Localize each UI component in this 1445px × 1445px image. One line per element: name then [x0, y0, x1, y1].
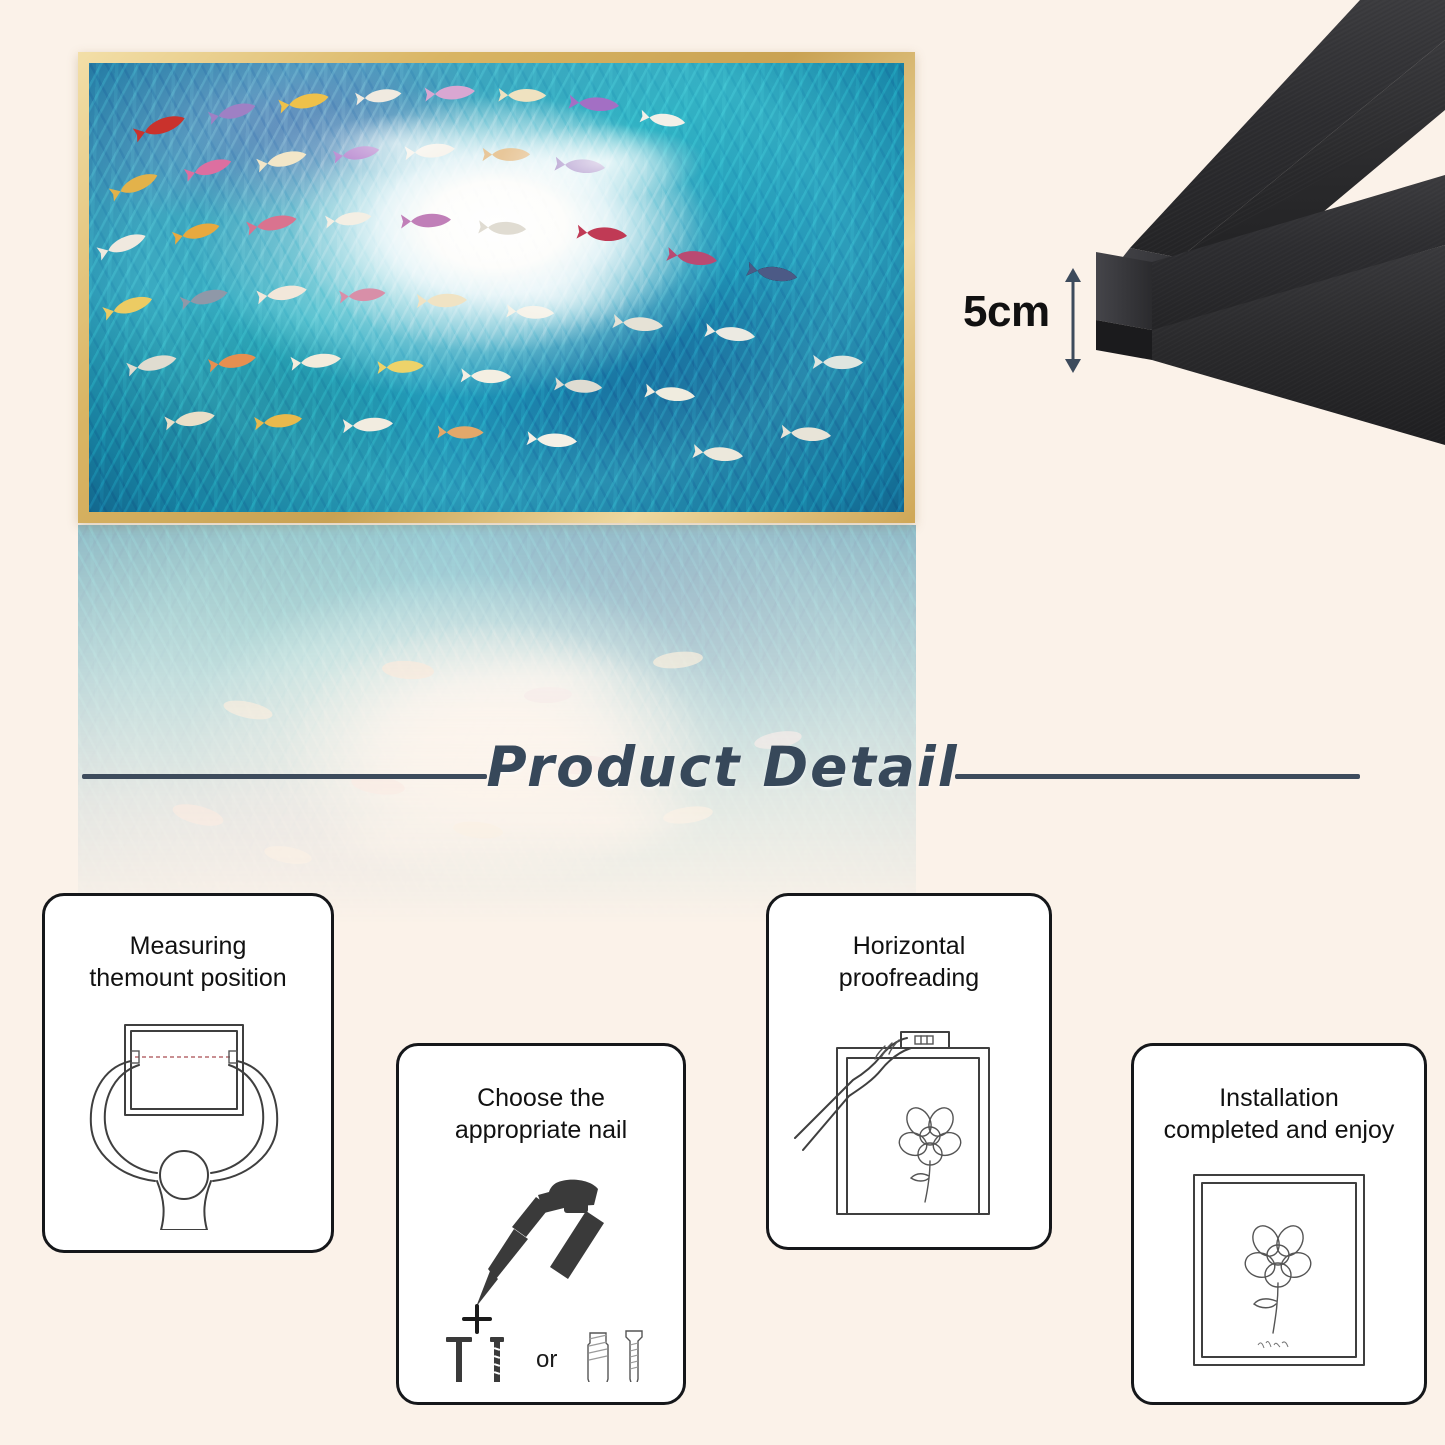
product-detail-page: 5cm — [0, 0, 1445, 1445]
artwork-reflection-canvas — [78, 525, 916, 925]
frame-depth-label: 5cm — [963, 287, 1050, 337]
instruction-card-level[interactable]: Horizontal proofreading — [766, 893, 1052, 1250]
divider-rule-right — [955, 774, 1360, 779]
card-illustration — [769, 994, 1049, 1247]
card-title: Measuring themount position — [75, 930, 300, 994]
page-title: Product Detail — [0, 735, 1445, 799]
card-title: Choose the appropriate nail — [441, 1082, 641, 1146]
card-illustration: or — [399, 1146, 683, 1402]
or-label: or — [536, 1346, 557, 1373]
fish-school-layer — [89, 63, 904, 512]
card-title: Installation completed and enjoy — [1150, 1082, 1409, 1146]
framed-artwork — [78, 52, 915, 523]
hammer-and-nail-icon: or — [418, 1167, 664, 1382]
instruction-card-nail[interactable]: Choose the appropriate nail — [396, 1043, 686, 1405]
card-illustration — [1134, 1146, 1424, 1402]
person-holding-frame-icon — [73, 1015, 303, 1230]
section-divider: Product Detail — [0, 735, 1445, 825]
instruction-card-complete[interactable]: Installation completed and enjoy — [1131, 1043, 1427, 1405]
card-title: Horizontal proofreading — [825, 930, 993, 994]
artwork-canvas — [89, 63, 904, 512]
ocean-fish-painting — [89, 63, 904, 512]
artwork-reflection — [78, 525, 916, 925]
card-illustration — [45, 994, 331, 1250]
instruction-card-measuring[interactable]: Measuring themount position — [42, 893, 334, 1253]
spirit-level-on-frame-icon — [789, 1026, 1029, 1216]
reflection-fish-layer — [78, 525, 916, 925]
black-wood-frame-corner — [1060, 0, 1445, 560]
hung-framed-artwork-icon — [1184, 1169, 1374, 1379]
